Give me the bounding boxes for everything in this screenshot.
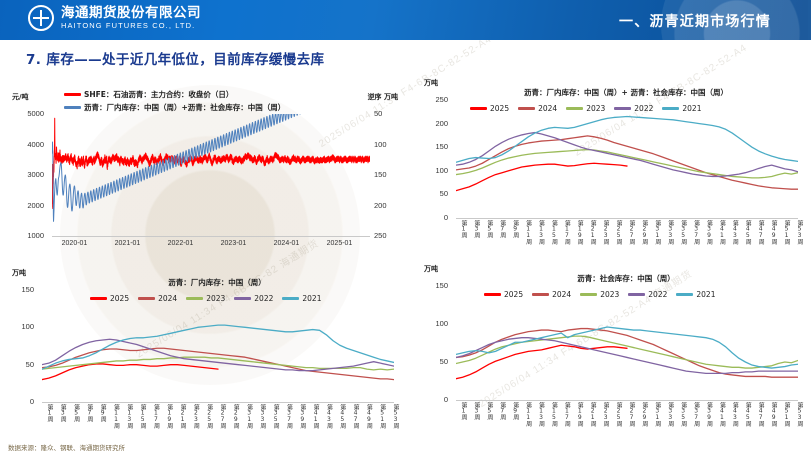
- haitong-circle-logo-icon: [28, 5, 54, 31]
- x-axis-tick-label: 第31周: [245, 404, 254, 428]
- chart-price-vs-inventory: 元/吨 逆序 万吨 SHFE：石油沥青：主力合约：收盘价（日） 沥青：厂内库存：…: [12, 88, 412, 258]
- x-axis-tick-label: 第9周: [511, 402, 520, 420]
- y-axis-tick-label: 100: [424, 166, 452, 175]
- x-axis-tick-label: 第19周: [575, 220, 584, 244]
- x-axis-tick-label: 第13周: [125, 404, 134, 428]
- x-axis-tick-label: 第23周: [601, 220, 610, 244]
- chart-total-inventory-seasonal: 万吨 沥青：厂内库存：中国（周）+ 沥青：社会库存：中国（周） 20252024…: [424, 78, 806, 253]
- x-axis-tick-label: 第37周: [285, 404, 294, 428]
- y-axis-unit: 万吨: [424, 78, 438, 88]
- x-axis-tick-label: 第15周: [138, 404, 147, 428]
- x-axis-tick-label: 第43周: [730, 220, 739, 244]
- y-axis-unit-left: 元/吨: [12, 92, 29, 102]
- y-axis-unit: 万吨: [424, 264, 438, 274]
- y-axis-unit: 万吨: [12, 268, 26, 278]
- x-axis-tick-label: 第53周: [795, 402, 804, 426]
- page-header: 海通期货股份有限公司 HAITONG FUTURES CO., LTD. 一、沥…: [0, 0, 811, 40]
- y-axis-tick-label: 150: [424, 142, 452, 151]
- x-axis-line: [456, 400, 798, 401]
- x-axis-tick-label: 第39周: [705, 220, 714, 244]
- y-axis-tick-label: 0: [424, 395, 452, 404]
- x-axis-line: [456, 218, 798, 219]
- x-axis-line: [42, 402, 394, 403]
- x-axis-tick-label: 2022-01: [161, 240, 201, 247]
- x-axis-tick-label: 第43周: [324, 404, 333, 428]
- y-axis-tick-label: 50: [424, 189, 452, 198]
- x-axis-tick-label: 第33周: [258, 404, 267, 428]
- chart-title: 沥青：厂内库存：中国（周）+ 沥青：社会库存：中国（周）: [456, 87, 796, 98]
- x-axis-tick-label: 第9周: [511, 220, 520, 238]
- series-line: [52, 118, 370, 208]
- company-name: 海通期货股份有限公司 HAITONG FUTURES CO., LTD.: [61, 6, 201, 30]
- x-axis-tick-label: 第19周: [575, 402, 584, 426]
- x-axis-tick-label: 第11周: [524, 220, 533, 244]
- x-axis-tick-label: 第3周: [58, 404, 67, 422]
- x-axis-tick-label: 第53周: [391, 404, 400, 428]
- x-axis-tick-label: 第33周: [666, 220, 675, 244]
- y-axis-tick-label: 3000: [12, 170, 48, 179]
- x-axis-tick-label: 第51周: [782, 402, 791, 426]
- x-axis-tick-label: 第31周: [653, 220, 662, 244]
- x-axis-tick-label: 第5周: [485, 402, 494, 420]
- chart-plant-inventory-seasonal: 万吨 沥青：厂内库存：中国（周） 20252024202320222021 15…: [12, 268, 410, 438]
- x-axis-tick-label: 第47周: [756, 402, 765, 426]
- y-axis-tick-label: 100: [374, 140, 387, 149]
- x-axis-tick-label: 2020-01: [55, 240, 95, 247]
- x-axis-tick-label: 第17周: [562, 402, 571, 426]
- x-axis-tick-label: 第41周: [717, 220, 726, 244]
- x-axis-tick-label: 第13周: [537, 220, 546, 244]
- y-axis-note: 逆序: [368, 93, 382, 101]
- x-axis-tick-label: 第21周: [588, 220, 597, 244]
- x-axis-tick-label: 第7周: [85, 404, 94, 422]
- company-name-cn: 海通期货股份有限公司: [61, 6, 201, 20]
- x-axis-tick-label: 第33周: [666, 402, 675, 426]
- x-axis-tick-label: 第35周: [679, 220, 688, 244]
- y-axis-tick-label: 2000: [12, 201, 48, 210]
- x-axis-tick-label: 2024-01: [267, 240, 307, 247]
- legend-label: 沥青：厂内库存：中国（周）+沥青：社会库存：中国（周）: [84, 102, 285, 113]
- y-axis-tick-label: 150: [424, 281, 452, 290]
- x-axis-tick-label: 第27周: [627, 220, 636, 244]
- company-logo: 海通期货股份有限公司 HAITONG FUTURES CO., LTD.: [28, 5, 201, 31]
- series-line: [456, 327, 798, 368]
- y-axis-tick-label: 100: [424, 319, 452, 328]
- x-axis-tick-label: 第53周: [795, 220, 804, 244]
- x-axis-tick-label: 第5周: [72, 404, 81, 422]
- chart-social-inventory-seasonal: 万吨 沥青：社会库存：中国（周） 20252024202320222021 15…: [424, 264, 806, 436]
- x-axis-tick-label: 第15周: [549, 220, 558, 244]
- series-line: [456, 133, 798, 177]
- series-line: [456, 150, 798, 178]
- chart-title: 沥青：厂内库存：中国（周）: [42, 277, 392, 288]
- x-axis-tick-label: 第23周: [191, 404, 200, 428]
- y-axis-tick-label: 0: [424, 213, 452, 222]
- plot-area: [42, 290, 394, 402]
- y-axis-tick-label: 250: [374, 231, 387, 240]
- legend-item: SHFE：石油沥青：主力合约：收盘价（日）: [64, 89, 285, 100]
- y-axis-tick-label: 150: [12, 285, 38, 294]
- x-axis-tick-label: 第29周: [231, 404, 240, 428]
- legend-item: 沥青：厂内库存：中国（周）+沥青：社会库存：中国（周）: [64, 102, 285, 113]
- legend-swatch-line-icon: [64, 106, 81, 109]
- x-axis-tick-label: 第27周: [627, 402, 636, 426]
- x-axis-tick-label: 第19周: [165, 404, 174, 428]
- company-name-en: HAITONG FUTURES CO., LTD.: [61, 22, 201, 30]
- x-axis-tick-label: 第31周: [653, 402, 662, 426]
- plot-area: [456, 286, 798, 400]
- x-axis-tick-label: 第7周: [498, 402, 507, 420]
- x-axis-tick-label: 第1周: [45, 404, 54, 422]
- x-axis-tick-label: 第1周: [459, 402, 468, 420]
- y-axis-tick-label: 250: [424, 95, 452, 104]
- x-axis-tick-label: 第29周: [640, 402, 649, 426]
- y-axis-tick-label: 5000: [12, 109, 48, 118]
- x-axis-tick-label: 第37周: [692, 220, 701, 244]
- x-axis-tick-label: 第51周: [378, 404, 387, 428]
- x-axis-tick-label: 第41周: [311, 404, 320, 428]
- x-axis-tick-label: 第35周: [679, 402, 688, 426]
- x-axis-tick-label: 第41周: [717, 402, 726, 426]
- page-title: 7. 库存——处于近几年低位，目前库存缓慢去库: [26, 48, 324, 68]
- x-axis-tick-label: 第1周: [459, 220, 468, 238]
- x-axis-tick-label: 2023-01: [214, 240, 254, 247]
- x-axis-tick-label: 第47周: [756, 220, 765, 244]
- y-axis-unit-right: 逆序 万吨: [368, 92, 398, 102]
- x-axis-tick-label: 第7周: [498, 220, 507, 238]
- x-axis-tick-label: 第13周: [537, 402, 546, 426]
- series-line: [42, 339, 394, 370]
- y-axis-tick-label: 4000: [12, 140, 48, 149]
- x-axis-tick-label: 第35周: [271, 404, 280, 428]
- x-axis-tick-label: 第21周: [178, 404, 187, 428]
- x-axis-tick-label: 第47周: [351, 404, 360, 428]
- x-axis-tick-label: 第49周: [364, 404, 373, 428]
- x-axis-tick-label: 第37周: [692, 402, 701, 426]
- x-axis-tick-label: 第49周: [769, 402, 778, 426]
- x-axis-tick-label: 第11周: [112, 404, 121, 428]
- x-axis-tick-label: 第27周: [218, 404, 227, 428]
- legend-label: SHFE：石油沥青：主力合约：收盘价（日）: [84, 89, 233, 100]
- x-axis-tick-label: 第29周: [640, 220, 649, 244]
- x-axis-tick-label: 第3周: [472, 402, 481, 420]
- x-axis-tick-label: 第21周: [588, 402, 597, 426]
- x-axis-tick-label: 第43周: [730, 402, 739, 426]
- x-axis-tick-label: 第25周: [614, 220, 623, 244]
- y-axis-tick-label: 50: [374, 109, 382, 118]
- x-axis-tick-label: 第25周: [205, 404, 214, 428]
- data-source-note: 数据来源：隆众、钢联、海通期货研究所: [8, 442, 125, 452]
- x-axis-tick-label: 第25周: [614, 402, 623, 426]
- chart-title: 沥青：社会库存：中国（周）: [456, 273, 796, 284]
- x-axis-tick-label: 第23周: [601, 402, 610, 426]
- x-axis-tick-label: 2025-01: [320, 240, 360, 247]
- series-line: [456, 329, 798, 378]
- x-axis-tick-label: 第17周: [562, 220, 571, 244]
- x-axis-tick-label: 第11周: [524, 402, 533, 426]
- section-title: 一、沥青近期市场行情: [619, 11, 771, 31]
- y-axis-tick-label: 50: [424, 357, 452, 366]
- y-axis-tick-label: 100: [12, 322, 38, 331]
- x-axis-tick-label: 第39周: [298, 404, 307, 428]
- x-axis-tick-label: 第49周: [769, 220, 778, 244]
- y-axis-tick-label: 150: [374, 170, 387, 179]
- x-axis-tick-label: 第5周: [485, 220, 494, 238]
- y-axis-tick-label: 200: [374, 201, 387, 210]
- x-axis-line: [52, 236, 370, 237]
- x-axis-tick-label: 第15周: [549, 402, 558, 426]
- y-axis-tick-label: 200: [424, 119, 452, 128]
- x-axis-tick-label: 第9周: [98, 404, 107, 422]
- x-axis-tick-label: 第45周: [743, 220, 752, 244]
- x-axis-tick-label: 第17周: [151, 404, 160, 428]
- x-axis-tick-label: 2021-01: [108, 240, 148, 247]
- plot-area: [52, 114, 370, 236]
- y-axis-tick-label: 1000: [12, 231, 48, 240]
- x-axis-tick-label: 第45周: [743, 402, 752, 426]
- x-axis-tick-label: 第51周: [782, 220, 791, 244]
- x-axis-tick-label: 第3周: [472, 220, 481, 238]
- x-axis-tick-label: 第39周: [705, 402, 714, 426]
- legend-swatch-line-icon: [64, 93, 81, 96]
- chart-legend: SHFE：石油沥青：主力合约：收盘价（日） 沥青：厂内库存：中国（周）+沥青：社…: [64, 89, 294, 115]
- y-axis-unit-right-label: 万吨: [384, 93, 398, 101]
- y-axis-tick-label: 50: [12, 360, 38, 369]
- series-line: [456, 163, 627, 190]
- y-axis-tick-label: 0: [12, 397, 38, 406]
- x-axis-tick-label: 第45周: [338, 404, 347, 428]
- series-line: [52, 114, 370, 221]
- plot-area: [456, 100, 798, 218]
